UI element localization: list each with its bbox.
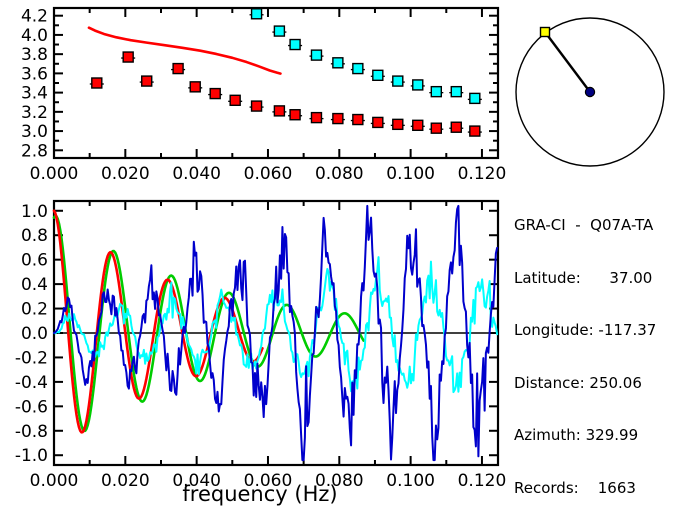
tick-label: -1.0 <box>15 446 48 466</box>
station-info-block: GRA-CI - Q07A-TA Latitude: 37.00 Longitu… <box>514 182 690 515</box>
data-point-marker <box>353 64 363 74</box>
tick-label: 0.2 <box>21 300 48 320</box>
tick-label: 0.060 <box>244 164 293 184</box>
data-point-marker <box>333 58 343 68</box>
tick-label: 3.4 <box>21 84 48 104</box>
data-point-marker <box>451 87 461 97</box>
info-row-azimuth: Azimuth: 329.99 <box>514 427 690 445</box>
station-pair-label: GRA-CI - Q07A-TA <box>514 217 690 235</box>
tick-label: 3.0 <box>21 122 48 142</box>
trace-red <box>54 211 262 433</box>
data-point-marker <box>373 117 383 127</box>
trace-cyan <box>54 257 497 392</box>
tick-label: 0.4 <box>21 275 48 295</box>
great-circle-path-diagram <box>508 4 686 176</box>
tick-label: 3.6 <box>21 64 48 84</box>
tick-label: -0.2 <box>15 348 48 368</box>
trace-green <box>54 216 364 431</box>
data-point-marker <box>413 80 423 90</box>
data-point-marker <box>311 50 321 60</box>
data-point-marker <box>290 40 300 50</box>
info-row-latitude: Latitude: 37.00 <box>514 270 690 288</box>
data-point-marker <box>92 78 102 88</box>
tick-label: 0.100 <box>386 164 435 184</box>
info-row-distance: Distance: 250.06 <box>514 375 690 393</box>
data-point-marker <box>431 123 441 133</box>
data-point-marker <box>274 106 284 116</box>
tick-label: -0.4 <box>15 373 48 393</box>
plot-frame <box>54 201 498 465</box>
data-point-marker <box>470 93 480 103</box>
data-point-marker <box>210 89 220 99</box>
event-marker <box>585 87 594 96</box>
data-point-marker <box>353 115 363 125</box>
tick-label: -0.8 <box>15 422 48 442</box>
tick-label: 0.040 <box>172 164 221 184</box>
data-point-marker <box>413 120 423 130</box>
tick-label: 0.0 <box>21 324 48 344</box>
data-point-marker <box>290 110 300 120</box>
data-point-marker <box>470 126 480 136</box>
dispersion-panel: 2.83.03.23.43.63.84.04.20.0000.0200.0400… <box>0 0 520 195</box>
tick-label: -0.6 <box>15 397 48 417</box>
data-point-marker <box>393 76 403 86</box>
dispersion-plot: 2.83.03.23.43.63.84.04.20.0000.0200.0400… <box>0 0 520 195</box>
data-point-marker <box>252 9 262 19</box>
tick-label: 4.2 <box>21 7 48 27</box>
data-point-marker <box>230 95 240 105</box>
data-point-marker <box>123 52 133 62</box>
data-point-marker <box>252 101 262 111</box>
data-point-marker <box>142 76 152 86</box>
tick-label: 0.120 <box>458 164 507 184</box>
tick-label: 0.020 <box>101 164 150 184</box>
x-axis-title: frequency (Hz) <box>0 482 520 506</box>
station-marker <box>541 28 550 37</box>
trace-blue <box>54 206 497 460</box>
data-point-marker <box>431 87 441 97</box>
tick-label: 2.8 <box>21 141 48 161</box>
data-point-marker <box>190 82 200 92</box>
path-diagram-panel <box>508 4 686 176</box>
data-point-marker <box>451 122 461 132</box>
info-row-records: Records: 1663 <box>514 480 690 498</box>
data-point-marker <box>373 70 383 80</box>
tick-label: 0.8 <box>21 226 48 246</box>
data-point-marker <box>393 119 403 129</box>
data-point-marker <box>311 113 321 123</box>
path-line <box>545 32 590 92</box>
tick-label: 3.2 <box>21 103 48 123</box>
tick-label: 0.6 <box>21 251 48 271</box>
tick-label: 1.0 <box>21 202 48 222</box>
tick-label: 3.8 <box>21 45 48 65</box>
info-row-longitude: Longitude: -117.37 <box>514 322 690 340</box>
tick-label: 0.000 <box>30 164 79 184</box>
data-point-marker <box>274 26 284 36</box>
data-point-marker <box>333 114 343 124</box>
data-point-marker <box>173 64 183 74</box>
reference-dispersion-curve <box>89 28 281 74</box>
tick-label: 4.0 <box>21 26 48 46</box>
tick-label: 0.080 <box>315 164 364 184</box>
